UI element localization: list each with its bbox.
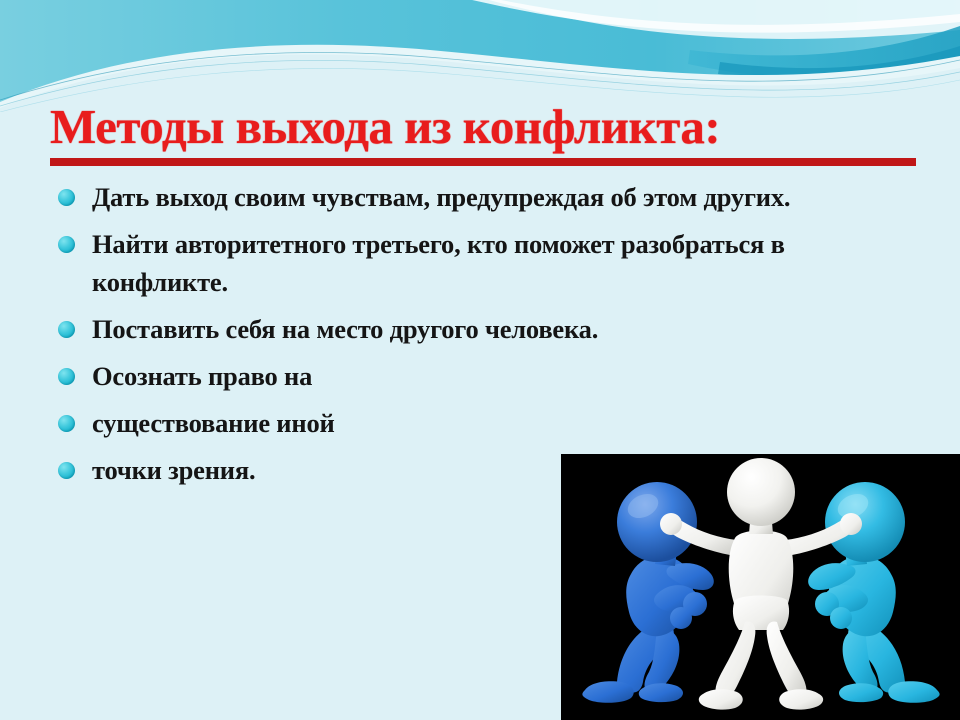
bullet-list: Дать выход своим чувствам, предупреждая … <box>52 178 932 498</box>
wave-band-icon <box>0 0 960 112</box>
list-item-label: существование иной <box>92 404 932 442</box>
three-figures-mediation-photo <box>561 454 960 720</box>
list-item: Найти авторитетного третьего, кто поможе… <box>52 225 932 301</box>
bullet-sphere-icon <box>58 415 75 432</box>
list-item-label: Дать выход своим чувствам, предупреждая … <box>92 178 932 216</box>
bullet-sphere-icon <box>58 321 75 338</box>
title-block: Методы выхода из конфликта: <box>50 98 930 166</box>
list-item: существование иной <box>52 404 932 442</box>
page-title: Методы выхода из конфликта: <box>50 98 930 156</box>
title-underline-rule <box>50 158 916 166</box>
list-item-label: Найти авторитетного третьего, кто поможе… <box>92 225 792 301</box>
presentation-slide: Методы выхода из конфликта: Дать выход с… <box>0 0 960 720</box>
list-item: Осознать право на <box>52 357 932 395</box>
list-item: Дать выход своим чувствам, предупреждая … <box>52 178 932 216</box>
bullet-sphere-icon <box>58 189 75 206</box>
bullet-sphere-icon <box>58 462 75 479</box>
wave-band-decoration <box>0 0 960 112</box>
bullet-sphere-icon <box>58 368 75 385</box>
bullet-sphere-icon <box>58 236 75 253</box>
mediation-illustration <box>561 454 960 720</box>
list-item: Поставить себя на место другого человека… <box>52 310 932 348</box>
list-item-label: Поставить себя на место другого человека… <box>92 310 932 348</box>
list-item-label: Осознать право на <box>92 357 932 395</box>
